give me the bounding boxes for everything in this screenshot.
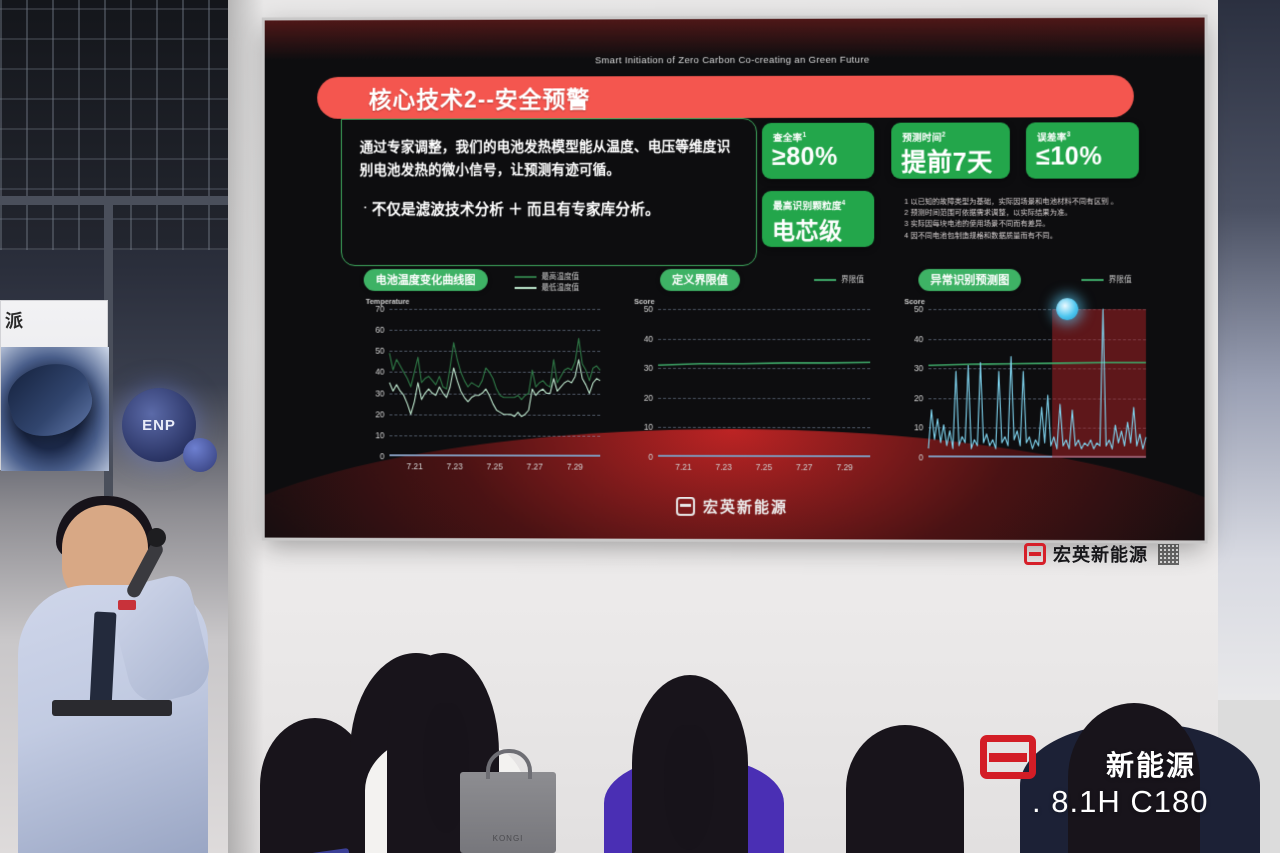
y-tick-label: 40: [644, 334, 653, 344]
chart-plot-area: 0102030405060707.217.237.257.277.29: [389, 309, 600, 457]
footnote-list: 1 以已知的故障类型为基础，实际因场景和电池材料不同有区别 。 2 预测时间范围…: [904, 196, 1146, 241]
footnote-item: 4 因不同电池包制造规格和数据质量而有不同。: [904, 229, 1146, 240]
watermark-logo-icon: [980, 735, 1036, 779]
slide-brand-name: 宏英新能源: [703, 496, 788, 517]
chart-series-line: [658, 362, 870, 365]
hongying-logo-icon: [676, 497, 695, 516]
y-tick-label: 10: [914, 423, 923, 433]
legend-label: 界限值: [1109, 274, 1132, 285]
neighbor-booth-title: 派: [5, 307, 24, 333]
y-tick-label: 50: [644, 304, 653, 314]
kpi-card-granularity: 最高识别颗粒度4 电芯级: [762, 191, 874, 247]
footnote-item: 2 预测时间范围可依据需求调整，以实际结果为准。: [904, 207, 1146, 218]
truss-beam: [0, 196, 262, 205]
y-tick-label: 10: [375, 430, 384, 440]
chart-battery-temperature: 电池温度变化曲线图 最高温度值 最低温度值 Temperature 010203…: [364, 269, 612, 494]
legend-item: 最低温度值: [515, 282, 580, 293]
hongying-logo-icon: [1024, 543, 1046, 565]
x-tick-label: 7.27: [527, 462, 543, 472]
exhibition-hall-right: [1212, 0, 1280, 700]
kpi-card-recall: 查全率1 ≥80%: [762, 123, 874, 179]
chart-plot-area: 01020304050: [928, 309, 1146, 458]
description-card: 通过专家调整，我们的电池发热模型能从温度、电压等维度识别电池发热的微小信号，让预…: [341, 118, 757, 266]
kpi-card-error-rate: 误差率3 ≤10%: [1026, 122, 1139, 178]
y-tick-label: 70: [375, 304, 384, 314]
chart-series-line: [389, 338, 600, 399]
y-tick-label: 20: [914, 393, 923, 403]
y-tick-label: 30: [644, 363, 653, 373]
chart-series-svg: [928, 309, 1146, 458]
legend-label: 最低温度值: [541, 282, 579, 293]
chart-series-svg: [389, 309, 600, 457]
page-title: 核心技术2--安全预警: [369, 80, 591, 114]
wall-brand-logo: 宏英新能源: [1024, 541, 1179, 567]
slide-title-banner: 核心技术2--安全预警: [317, 75, 1134, 119]
presenter-belt: [52, 700, 172, 716]
chart-series-line: [928, 362, 1146, 365]
legend-label: 最高温度值: [541, 271, 579, 282]
y-tick-label: 20: [644, 393, 653, 403]
projected-slide: Smart Initiation of Zero Carbon Co-creat…: [265, 18, 1205, 541]
chart-anomaly-prediction: 异常识别预测图 界限值 Score 01020304050: [902, 269, 1159, 495]
kpi-card-lead-time: 预测时间2 提前7天: [891, 122, 1010, 178]
watermark-booth-number: . 8.1H C180: [1032, 784, 1208, 820]
qr-code-icon: [1158, 544, 1179, 565]
kpi-label: 预测时间2: [902, 130, 945, 144]
legend-line-icon: [515, 286, 537, 288]
footnote-item: 1 以已知的故障类型为基础，实际因场景和电池材料不同有区别 。: [904, 196, 1146, 207]
y-tick-label: 0: [919, 452, 924, 462]
exhibition-photo-scene: 派 ENP Smart Initiation of Zero Carbon Co…: [0, 0, 1280, 853]
x-tick-label: 7.23: [716, 462, 732, 472]
y-tick-label: 10: [644, 422, 653, 432]
chart-series-svg: [658, 309, 870, 457]
y-tick-label: 20: [375, 409, 384, 419]
x-tick-label: 7.21: [675, 462, 691, 472]
legend-label: 界限值: [841, 274, 864, 285]
slide-brand-logo: 宏英新能源: [265, 495, 1205, 519]
legend-item: 最高温度值: [515, 271, 580, 282]
legend-item: 界限值: [814, 274, 864, 285]
tote-bag-text: KONGI: [460, 834, 556, 843]
kpi-value: ≤10%: [1036, 142, 1102, 171]
y-tick-label: 50: [914, 304, 923, 314]
kpi-value: 电芯级: [772, 212, 843, 246]
watermark-brand: 新能源: [1106, 744, 1196, 784]
description-lead: 通过专家调整，我们的电池发热模型能从温度、电压等维度识别电池发热的微小信号，让预…: [360, 135, 744, 181]
x-tick-label: 7.29: [837, 462, 853, 472]
y-tick-label: 40: [914, 334, 923, 344]
kpi-label: 误差率3: [1037, 129, 1070, 143]
x-tick-label: 7.25: [487, 461, 503, 471]
chart-plot-area: 010203040507.217.237.257.277.29: [658, 309, 870, 457]
chart-title-chip: 定义界限值: [660, 269, 740, 291]
y-tick-label: 60: [375, 325, 384, 335]
x-tick-label: 7.27: [796, 462, 812, 472]
y-tick-label: 30: [914, 363, 923, 373]
chart-title-chip: 异常识别预测图: [918, 269, 1021, 291]
legend-line-icon: [515, 276, 537, 278]
chart-legend: 界限值: [1081, 274, 1131, 285]
legend-line-icon: [1081, 278, 1103, 280]
presenter-badge: [118, 600, 136, 610]
microphone-head-icon: [147, 528, 166, 547]
y-tick-label: 40: [375, 367, 384, 377]
chart-title-chip: 电池温度变化曲线图: [364, 269, 488, 291]
neighbor-booth-image: [1, 347, 109, 471]
kpi-label: 查全率1: [773, 130, 806, 144]
legend-item: 界限值: [1081, 274, 1131, 285]
chart-threshold-definition: 定义界限值 界限值 Score 010203040507.217.237.257…: [632, 269, 882, 494]
x-tick-label: 7.23: [447, 461, 463, 471]
y-tick-label: 0: [648, 452, 653, 462]
bullet-dot-icon: ·: [364, 202, 368, 214]
x-tick-label: 7.29: [567, 462, 583, 472]
footnote-item: 3 实际因每块电池的使用场景不同而有差异。: [904, 218, 1146, 229]
neighbor-booth-panel: 派: [0, 300, 108, 470]
kpi-value: ≥80%: [772, 143, 838, 172]
chart-legend: 界限值: [814, 274, 864, 285]
wall-brand-name: 宏英新能源: [1053, 541, 1148, 567]
x-tick-label: 7.21: [407, 461, 423, 471]
chart-legend: 最高温度值 最低温度值: [515, 271, 580, 293]
ceiling-truss: [0, 0, 262, 250]
tote-bag: KONGI: [460, 772, 556, 853]
y-tick-label: 0: [380, 451, 385, 461]
kpi-label: 最高识别颗粒度4: [773, 198, 846, 212]
enp-booth-accent: [183, 438, 217, 472]
kpi-value: 提前7天: [901, 143, 992, 179]
y-tick-label: 50: [375, 346, 384, 356]
y-axis-label: Temperature: [366, 297, 410, 306]
slide-eyebrow: Smart Initiation of Zero Carbon Co-creat…: [265, 54, 1205, 67]
description-bullet-text: 不仅是滤波技术分析 ＋ 而且有专家库分析。: [372, 202, 660, 218]
legend-line-icon: [814, 278, 836, 280]
description-bullet: · 不仅是滤波技术分析 ＋ 而且有专家库分析。: [364, 197, 754, 221]
chart-series-line: [928, 309, 1146, 449]
audience-member: [610, 653, 770, 853]
anomaly-marker-icon[interactable]: [1056, 298, 1078, 320]
y-tick-label: 30: [375, 388, 384, 398]
x-tick-label: 7.25: [756, 462, 772, 472]
audience-member: [830, 718, 980, 853]
